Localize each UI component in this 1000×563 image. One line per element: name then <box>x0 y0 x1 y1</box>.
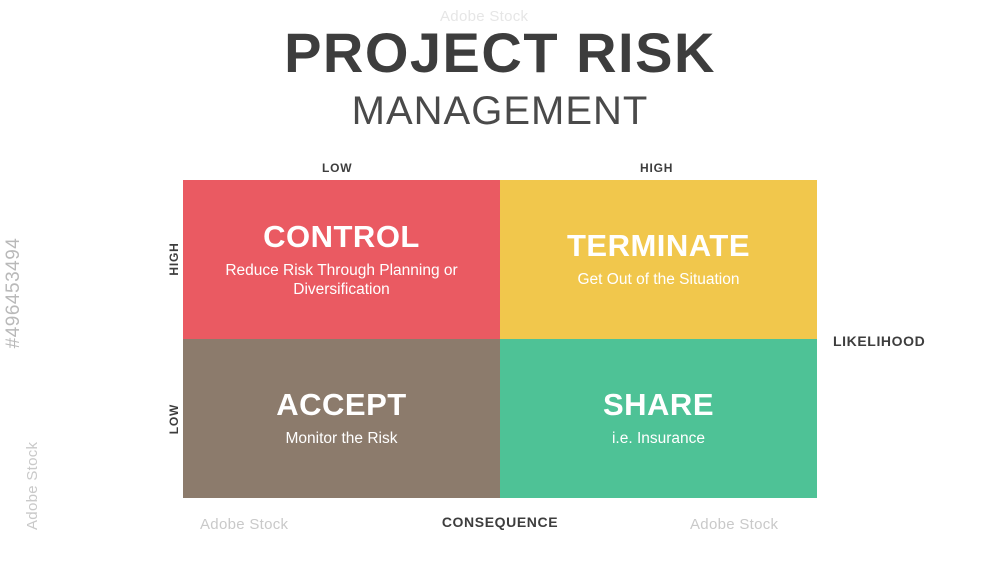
watermark-id-text: #496453494 <box>3 238 24 349</box>
quadrant-accept-desc: Monitor the Risk <box>286 429 398 448</box>
axis-label-likelihood: LIKELIHOOD <box>833 333 925 349</box>
axis-label-consequence: CONSEQUENCE <box>0 514 1000 530</box>
axis-label-left-low: LOW <box>167 401 181 437</box>
quadrant-terminate[interactable]: TERMINATE Get Out of the Situation <box>500 180 817 339</box>
quadrant-share[interactable]: SHARE i.e. Insurance <box>500 339 817 498</box>
title-main: PROJECT RISK <box>0 24 1000 83</box>
diagram-canvas: Adobe Stock Adobe Stock Adobe Stock Adob… <box>0 0 1000 563</box>
quadrant-accept-title: ACCEPT <box>276 388 406 422</box>
quadrant-control-desc: Reduce Risk Through Planning or Diversif… <box>212 261 472 300</box>
quadrant-share-desc: i.e. Insurance <box>612 429 705 448</box>
axis-label-top-low: LOW <box>322 161 352 175</box>
quadrant-terminate-title: TERMINATE <box>567 229 750 263</box>
quadrant-control[interactable]: CONTROL Reduce Risk Through Planning or … <box>183 180 500 339</box>
watermark-id: #496453494 <box>3 238 25 349</box>
title-sub: MANAGEMENT <box>0 85 1000 137</box>
page-title: PROJECT RISK MANAGEMENT <box>0 24 1000 137</box>
quadrant-share-title: SHARE <box>603 388 714 422</box>
axis-label-left-high: HIGH <box>167 239 181 279</box>
quadrant-accept[interactable]: ACCEPT Monitor the Risk <box>183 339 500 498</box>
quadrant-terminate-desc: Get Out of the Situation <box>578 270 740 289</box>
axis-label-top-high: HIGH <box>640 161 673 175</box>
quadrant-control-title: CONTROL <box>263 220 420 254</box>
risk-matrix: CONTROL Reduce Risk Through Planning or … <box>183 180 817 498</box>
